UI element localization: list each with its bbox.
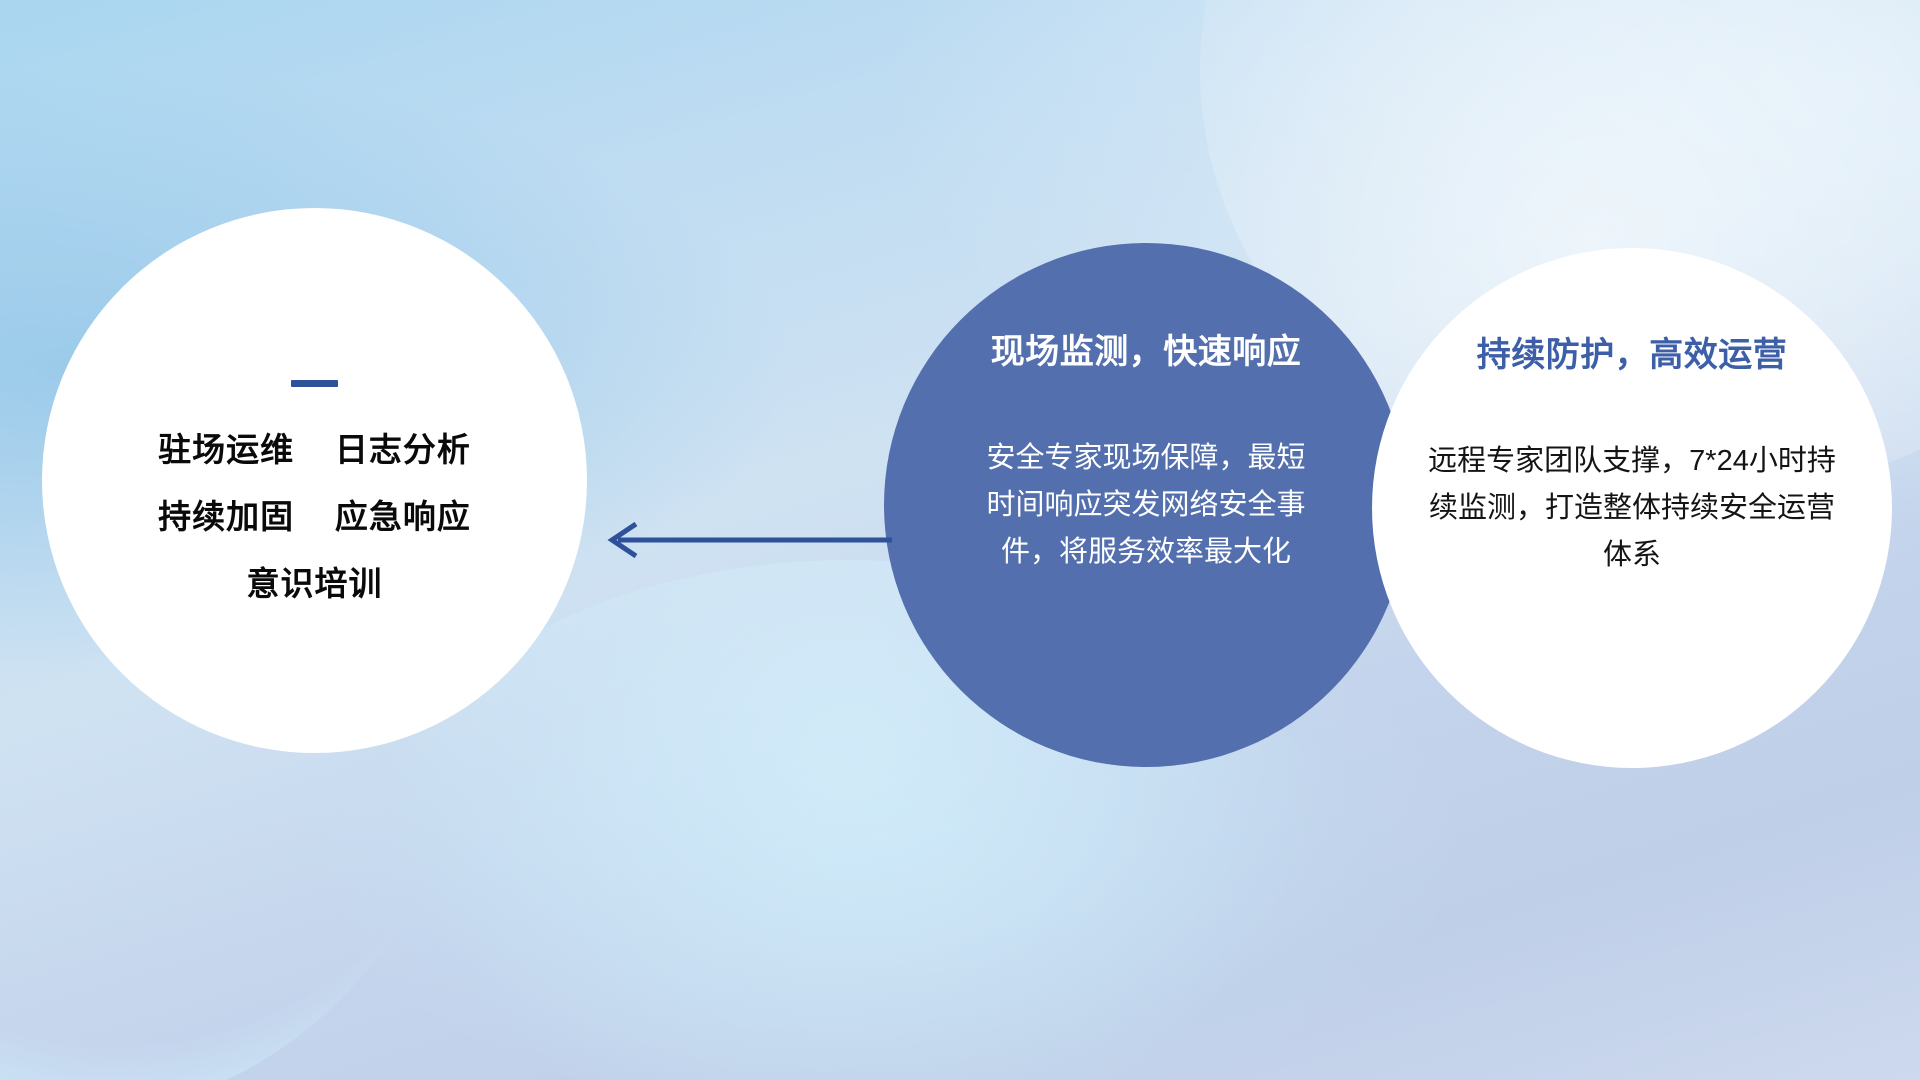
slide-canvas: 驻场运维 日志分析 持续加固 应急响应 意识培训 现场监测，快速响应 安全专家现… [0, 0, 1920, 1080]
flow-arrow-left-icon [596, 520, 896, 560]
divider-dash-icon [291, 380, 338, 387]
operations-circle-title: 持续防护，高效运营 [1477, 338, 1788, 372]
continuous-operations-circle: 持续防护，高效运营 远程专家团队支撑，7*24小时持续监测，打造整体持续安全运营… [1372, 248, 1892, 768]
onsite-circle-body: 安全专家现场保障，最短时间响应突发网络安全事件，将服务效率最大化 [981, 435, 1311, 576]
capability-line-1: 驻场运维 日志分析 [158, 433, 471, 466]
capability-line-2: 持续加固 应急响应 [158, 500, 471, 533]
capabilities-circle: 驻场运维 日志分析 持续加固 应急响应 意识培训 [42, 208, 587, 753]
onsite-monitoring-circle: 现场监测，快速响应 安全专家现场保障，最短时间响应突发网络安全事件，将服务效率最… [884, 243, 1408, 767]
onsite-circle-title: 现场监测，快速响应 [991, 335, 1302, 369]
capability-line-3: 意识培训 [247, 567, 383, 600]
operations-circle-body: 远程专家团队支撑，7*24小时持续监测，打造整体持续安全运营体系 [1417, 438, 1847, 579]
